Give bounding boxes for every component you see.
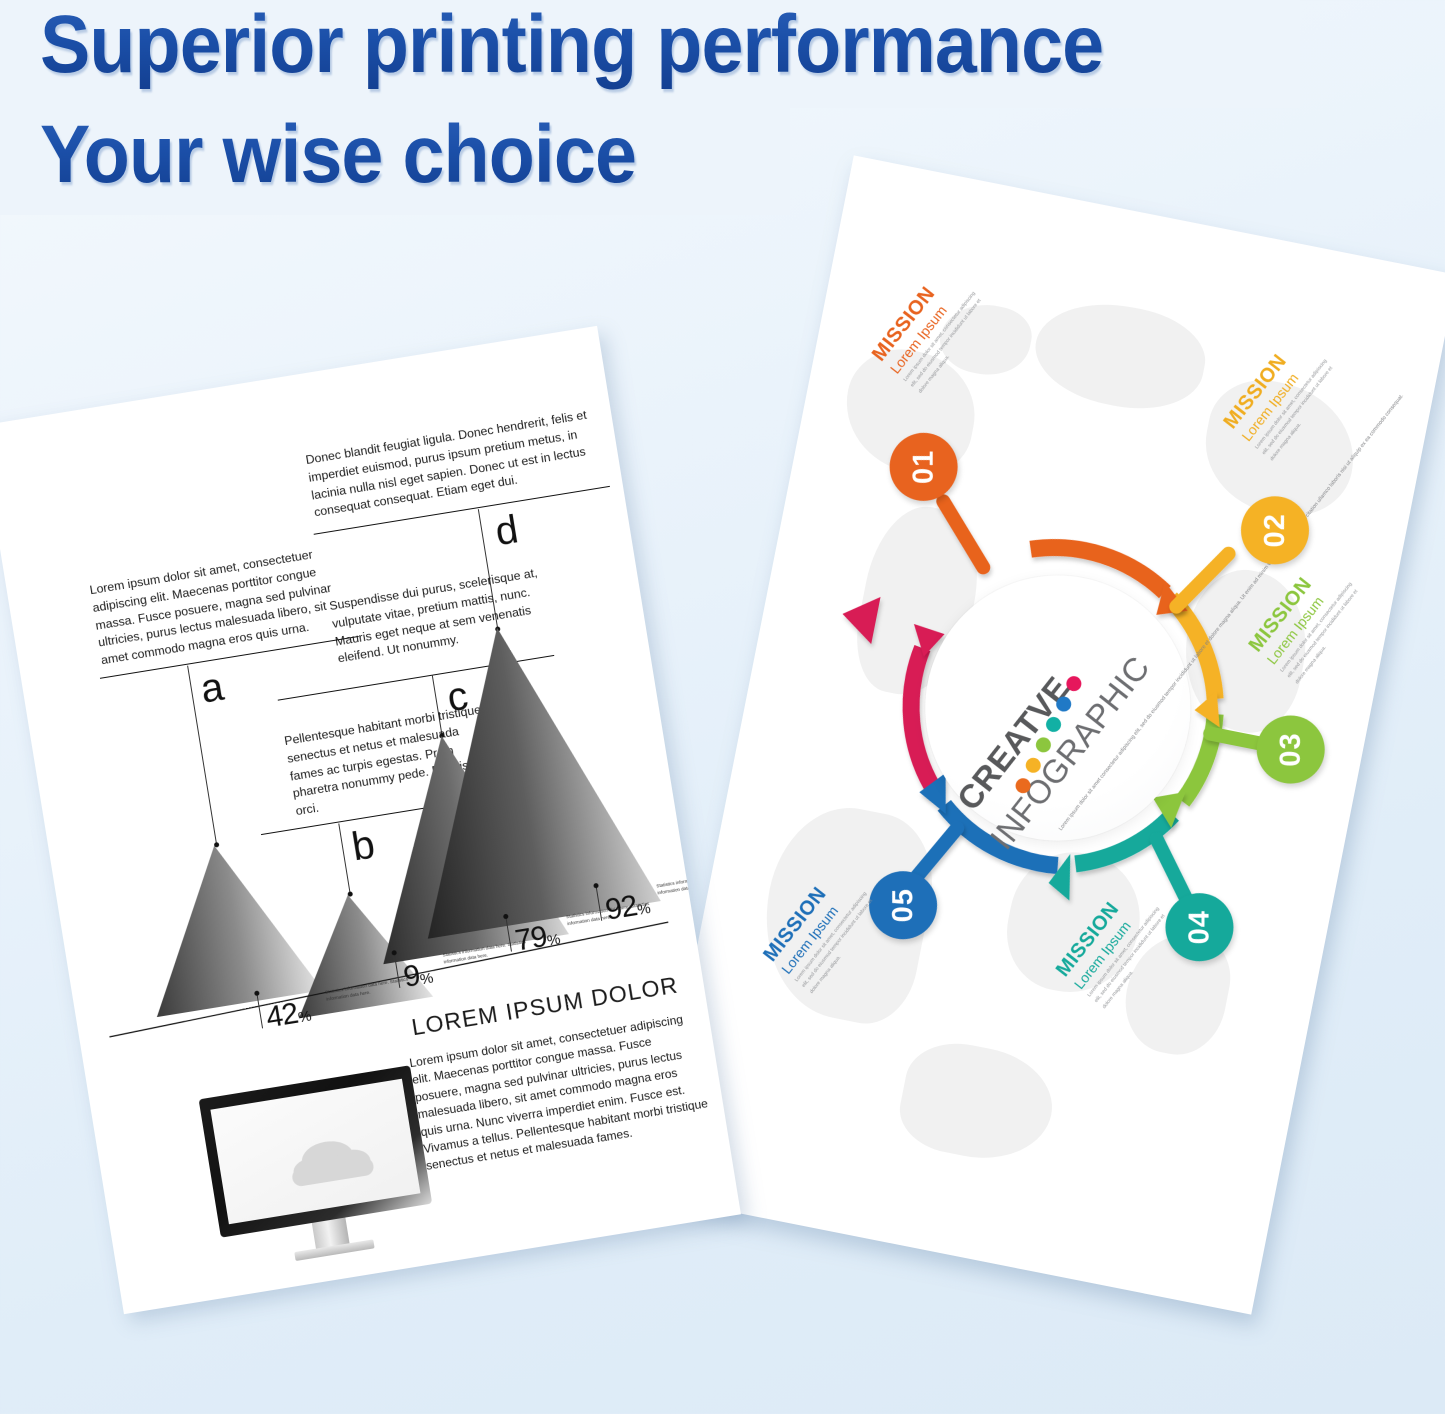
- report-content: Donec blandit feugiat ligula. Donec hend…: [0, 326, 741, 1314]
- node-01-number: 01: [890, 433, 958, 501]
- report-sheet[interactable]: Donec blandit feugiat ligula. Donec hend…: [0, 326, 741, 1314]
- node-02-number: 02: [1241, 496, 1309, 564]
- triangle-bar-a: [131, 832, 322, 1017]
- headline-line-1: Superior printing performance: [40, 0, 1103, 92]
- stat-value-a: 42%: [264, 995, 314, 1036]
- infographic-sheet[interactable]: CREATVE INFOGRAPHIC Lorem ipsum dolor si…: [648, 155, 1445, 1314]
- stat-value-b: 9%: [401, 957, 435, 995]
- node-02[interactable]: 02: [1235, 490, 1315, 570]
- stat-value-c: 79%: [513, 918, 563, 959]
- monitor-illustration: [189, 1054, 448, 1288]
- node-03[interactable]: 03: [1251, 710, 1331, 790]
- node-03-number: 03: [1257, 715, 1325, 783]
- headline-line-2: Your wise choice: [40, 108, 636, 202]
- node-04-number: 04: [1165, 893, 1233, 961]
- infographic-diagram: CREATVE INFOGRAPHIC Lorem ipsum dolor si…: [648, 155, 1445, 1314]
- node-01[interactable]: 01: [884, 427, 964, 507]
- headline-banner: Superior printing performance Your wise …: [0, 0, 1445, 215]
- stat-value-d: 92%: [603, 887, 653, 928]
